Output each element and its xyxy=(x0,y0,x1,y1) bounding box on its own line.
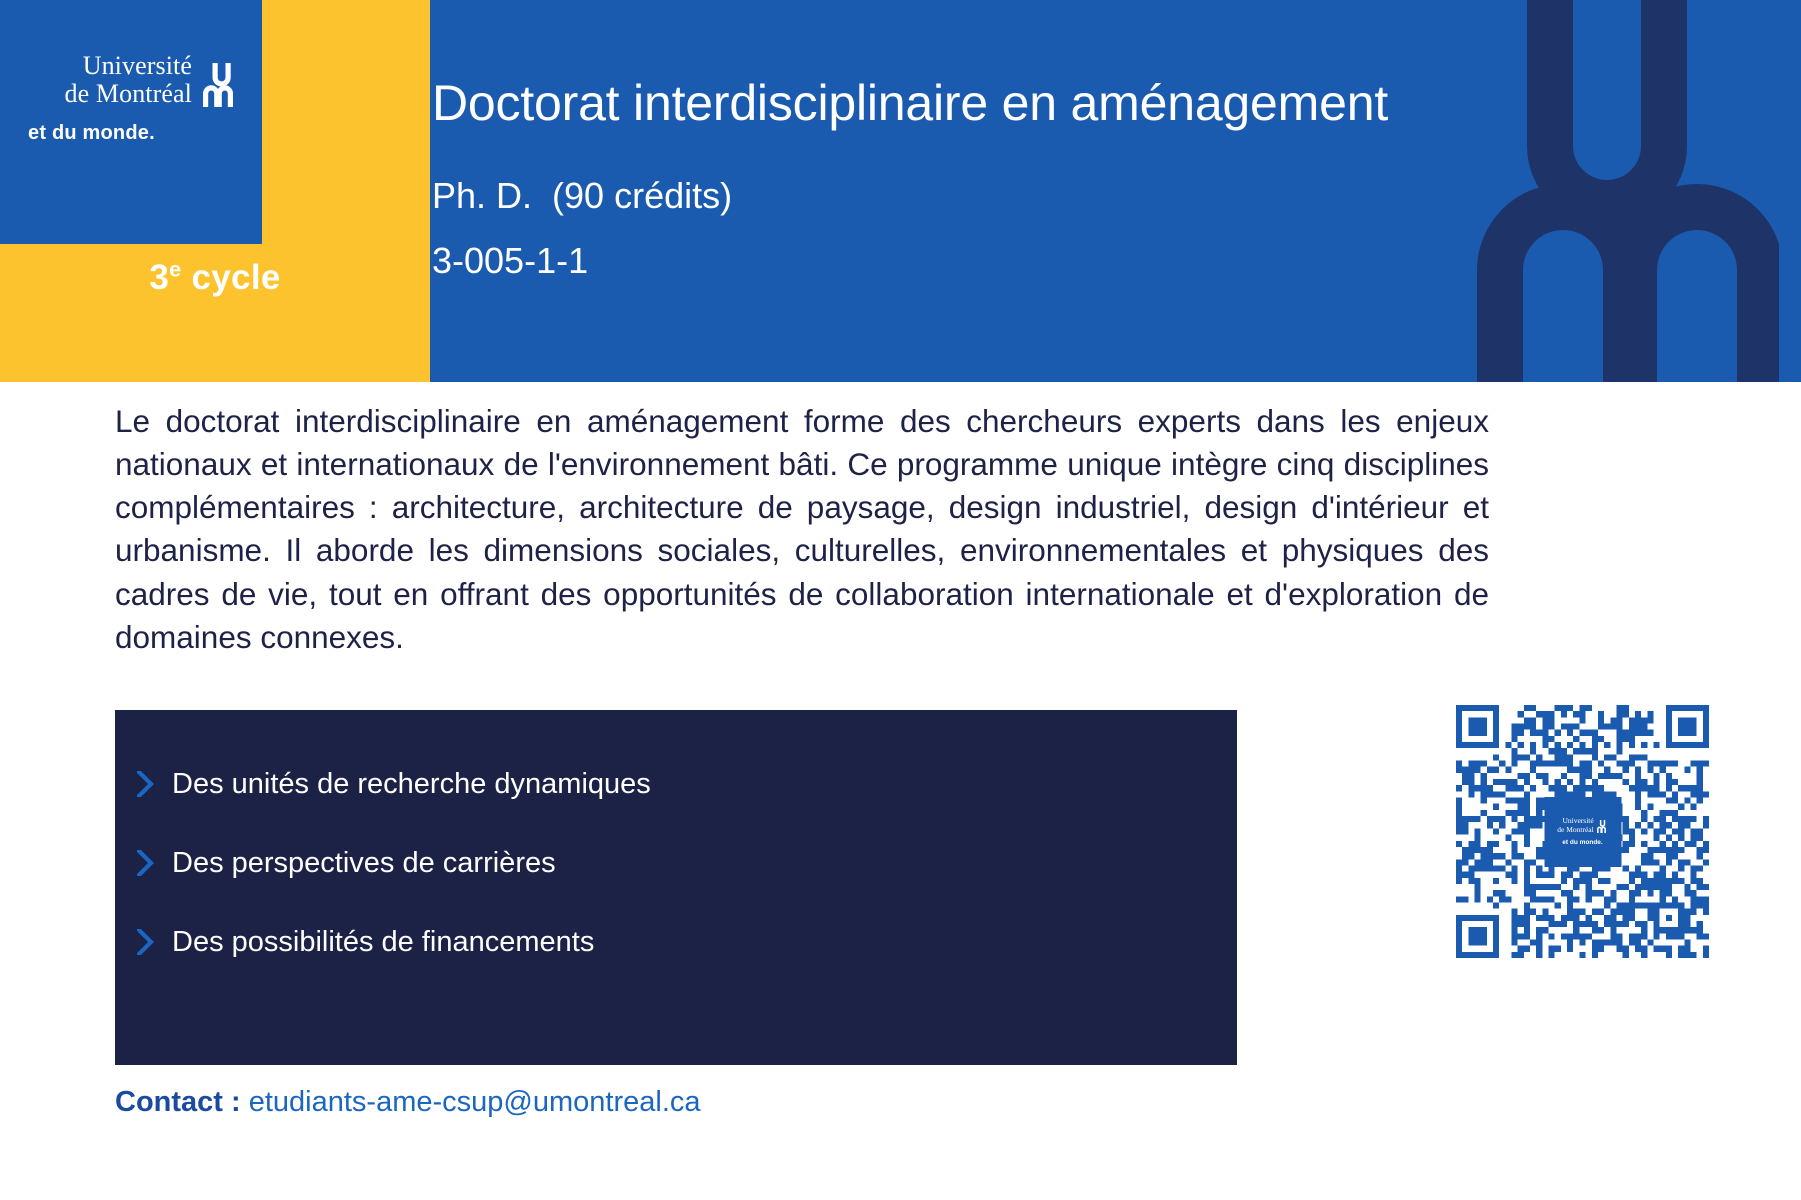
highlight-label: Des possibilités de financements xyxy=(172,928,594,957)
contact-line: Contact : etudiants-ame-csup@umontreal.c… xyxy=(115,1086,701,1119)
program-poster: Université de Montréal et du monde. 3e c… xyxy=(0,0,1801,1200)
highlights-list: Des unités de recherche dynamiques Des p… xyxy=(115,710,1237,995)
qr-logo-tagline: et du monde. xyxy=(1562,839,1602,846)
logo-tagline: et du monde. xyxy=(28,122,238,145)
cycle-badge-number: 3 xyxy=(149,258,169,297)
logo-line-1: Université xyxy=(65,52,192,80)
program-description: Le doctorat interdisciplinaire en aménag… xyxy=(115,400,1489,659)
page-title: Doctorat interdisciplinaire en aménageme… xyxy=(432,76,1532,130)
udem-logo: Université de Montréal et du monde. xyxy=(28,52,238,145)
logo-line-2: de Montréal xyxy=(65,80,192,108)
cycle-badge-word: cycle xyxy=(192,258,281,297)
degree-credits: Ph. D. (90 crédits) xyxy=(432,174,1532,217)
highlight-label: Des unités de recherche dynamiques xyxy=(172,770,651,799)
contact-email[interactable]: etudiants-ame-csup@umontreal.ca xyxy=(249,1086,701,1118)
qr-code[interactable]: Université de Montréal et du monde. xyxy=(1456,705,1709,958)
list-item: Des possibilités de financements xyxy=(137,916,1237,968)
highlight-label: Des perspectives de carrières xyxy=(172,849,556,878)
logo-block: Université de Montréal et du monde. xyxy=(0,0,262,244)
list-item: Des perspectives de carrières xyxy=(137,837,1237,889)
udem-logomark-icon xyxy=(198,63,238,107)
udem-logomark-icon xyxy=(1596,820,1608,833)
list-item: Des unités de recherche dynamiques xyxy=(137,758,1237,810)
header-text-group: Doctorat interdisciplinaire en aménageme… xyxy=(432,0,1532,282)
qr-center-logo: Université de Montréal et du monde. xyxy=(1544,797,1621,867)
chevron-right-icon xyxy=(137,929,154,955)
qr-logo-line-2: de Montréal xyxy=(1557,826,1593,834)
chevron-right-icon xyxy=(137,771,154,797)
cycle-badge: 3e cycle xyxy=(0,258,430,298)
contact-label: Contact : xyxy=(115,1086,241,1118)
highlights-box: Des unités de recherche dynamiques Des p… xyxy=(115,710,1237,1065)
poster-header: Université de Montréal et du monde. 3e c… xyxy=(0,0,1801,382)
cycle-badge-ordinal: e xyxy=(169,256,181,281)
program-code: 3-005-1-1 xyxy=(432,239,1532,282)
chevron-right-icon xyxy=(137,850,154,876)
